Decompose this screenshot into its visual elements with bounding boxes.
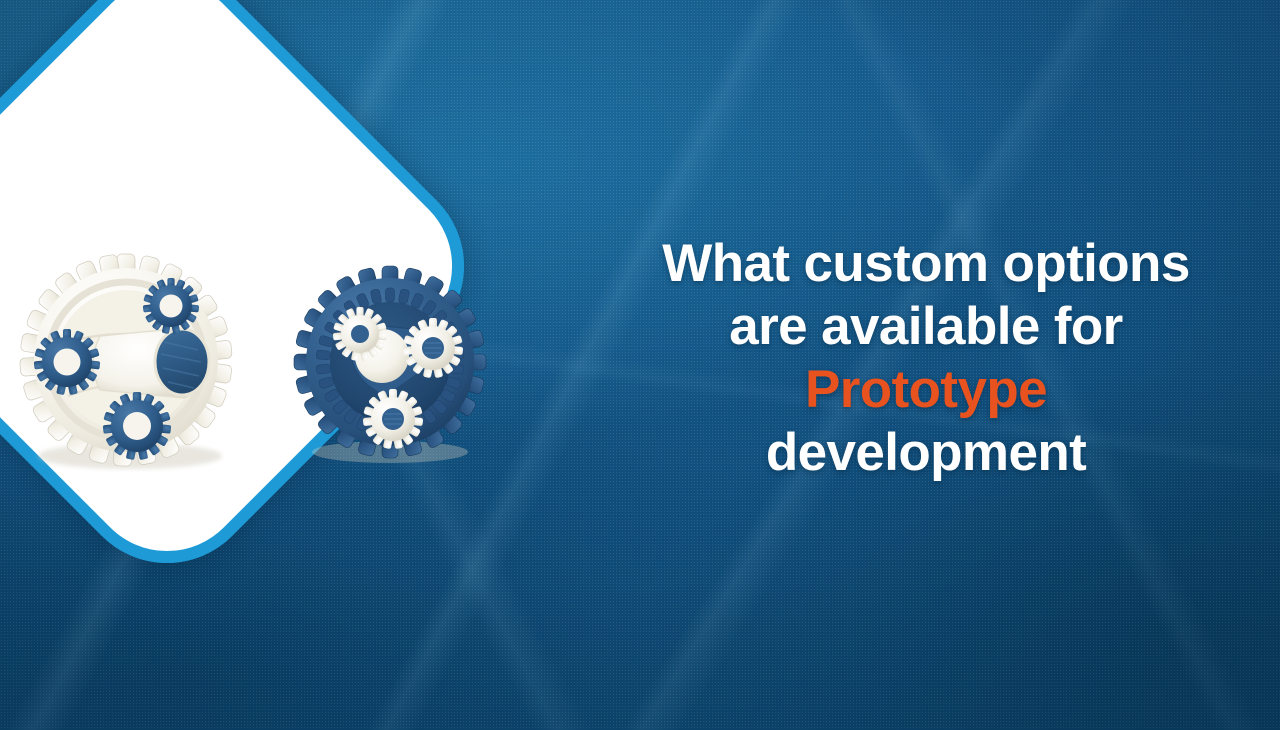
- headline-line-1: What custom options: [620, 232, 1232, 295]
- white-planetary-gear-photo: [8, 250, 244, 478]
- headline: What custom options are available for Pr…: [620, 232, 1232, 484]
- promo-banner: What custom options are available for Pr…: [0, 0, 1280, 730]
- gear-photo-stage: [0, 250, 600, 490]
- blue-planetary-gear-photo: [290, 264, 490, 464]
- headline-line-2: are available for: [620, 295, 1232, 358]
- headline-accent-prototype: Prototype: [620, 358, 1232, 421]
- headline-line-4: development: [620, 421, 1232, 484]
